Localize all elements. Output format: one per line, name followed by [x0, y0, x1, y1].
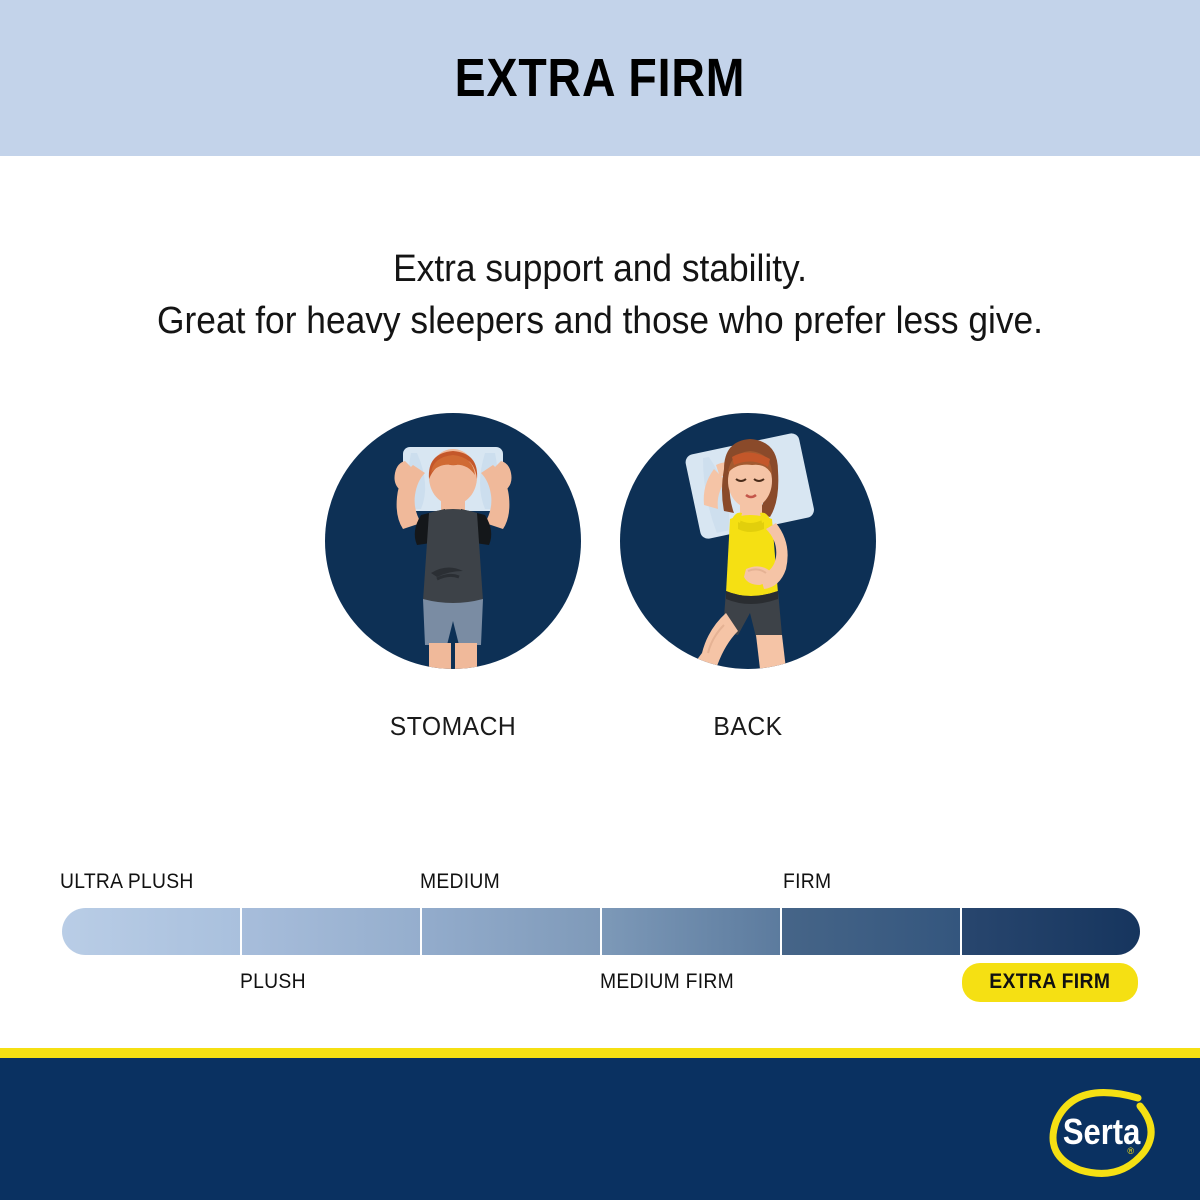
infographic-page: EXTRA FIRM Extra support and stability. …	[0, 0, 1200, 1200]
stomach-sleeper-circle	[325, 413, 581, 669]
scale-label-plush: PLUSH	[240, 970, 306, 994]
firmness-scale: ULTRA PLUSH MEDIUM FIRM PLUSH MEDIUM FIR…	[0, 860, 1200, 1010]
stomach-sleeper-illustration	[325, 413, 581, 669]
scale-selected-text: EXTRA FIRM	[989, 970, 1110, 994]
scale-label-ultra-plush: ULTRA PLUSH	[60, 870, 194, 894]
serta-logo-trademark: ®	[1127, 1146, 1134, 1156]
scale-segment-medium-firm[interactable]	[600, 908, 780, 955]
subtitle-line-2: Great for heavy sleepers and those who p…	[42, 295, 1158, 347]
subtitle-block: Extra support and stability. Great for h…	[42, 243, 1158, 347]
scale-label-medium: MEDIUM	[420, 870, 500, 894]
scale-segment-firm[interactable]	[780, 908, 960, 955]
scale-label-medium-firm: MEDIUM FIRM	[600, 970, 734, 994]
back-sleeper-illustration	[620, 413, 876, 669]
header-band: EXTRA FIRM	[0, 0, 1200, 156]
scale-label-firm: FIRM	[783, 870, 831, 894]
sleep-position-back: BACK	[620, 413, 876, 742]
sleep-positions: STOMACH	[0, 413, 1200, 753]
back-sleeper-circle	[620, 413, 876, 669]
scale-label-extra-firm-selected[interactable]: EXTRA FIRM	[962, 963, 1138, 1002]
sleep-position-label-back: BACK	[626, 711, 869, 742]
scale-segment-ultra-plush[interactable]	[62, 908, 240, 955]
sleep-position-stomach: STOMACH	[325, 413, 581, 742]
page-title: EXTRA FIRM	[455, 47, 746, 109]
subtitle-line-1: Extra support and stability.	[42, 243, 1158, 295]
footer-accent-stripe	[0, 1048, 1200, 1058]
footer-band: Serta ®	[0, 1058, 1200, 1200]
sleep-position-label-stomach: STOMACH	[331, 711, 574, 742]
scale-segment-plush[interactable]	[240, 908, 420, 955]
serta-logo[interactable]: Serta ®	[1044, 1082, 1162, 1178]
scale-segment-medium[interactable]	[420, 908, 600, 955]
firmness-scale-bar[interactable]	[62, 908, 1140, 955]
serta-logo-mark: Serta	[1044, 1082, 1162, 1178]
scale-segment-extra-firm[interactable]	[960, 908, 1140, 955]
